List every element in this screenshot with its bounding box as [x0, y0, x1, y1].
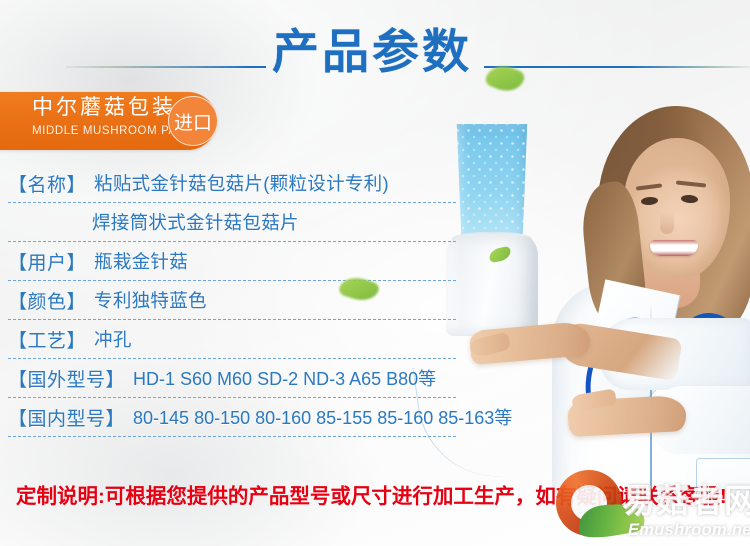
spec-key: 【国外型号】 — [8, 365, 125, 392]
spec-table: 【名称】 粘贴式金针菇包菇片(颗粒设计专利) 焊接筒状式金针菇包菇片 【用户】 … — [8, 164, 456, 437]
table-row: 【名称】 粘贴式金针菇包菇片(颗粒设计专利) — [8, 164, 456, 203]
spec-value: 焊接筒状式金针菇包菇片 — [84, 209, 456, 235]
spec-value: 专利独特蓝色 — [86, 287, 456, 313]
table-row: 【国内型号】 80-145 80-150 80-160 85-155 85-16… — [8, 398, 456, 437]
spec-key: 【颜色】 — [8, 287, 86, 314]
spec-value: 80-145 80-150 80-160 85-155 85-160 85-16… — [125, 404, 512, 430]
brand-name-cn: 中尔蘑菇包装 — [32, 96, 176, 120]
spec-value: 瓶栽金针菇 — [86, 248, 456, 274]
product-parameters-banner: 产品参数 中尔蘑菇包装 MIDDLE MUSHROOM PACKING 进口 — [0, 0, 750, 546]
nose — [660, 212, 674, 234]
table-row: 【国外型号】 HD-1 S60 M60 SD-2 ND-3 A65 B80等 — [8, 359, 456, 398]
table-row: 【工艺】 冲孔 — [8, 320, 456, 359]
import-badge-label: 进口 — [169, 97, 217, 145]
watermark-text-cn: 易菇者网 — [622, 482, 750, 520]
spec-value: HD-1 S60 M60 SD-2 ND-3 A65 B80等 — [125, 365, 456, 391]
spec-value: 冲孔 — [86, 326, 456, 352]
import-badge: 进口 — [168, 96, 218, 146]
spec-key: 【工艺】 — [8, 326, 86, 353]
spec-key: 【用户】 — [8, 248, 86, 275]
site-watermark: 易菇者网 Emushroom.net — [556, 468, 750, 546]
watermark-text-en: Emushroom.net — [628, 520, 750, 540]
spec-value: 粘贴式金针菇包菇片(颗粒设计专利) — [86, 170, 456, 196]
mouth-smile — [650, 240, 698, 256]
table-row: 【颜色】 专利独特蓝色 — [8, 281, 456, 320]
table-row: 焊接筒状式金针菇包菇片 — [8, 203, 456, 242]
heading-rule-left — [66, 66, 266, 68]
page-title: 产品参数 — [272, 22, 472, 82]
table-row: 【用户】 瓶栽金针菇 — [8, 242, 456, 281]
spec-key: 【名称】 — [8, 170, 86, 197]
spec-key: 【国内型号】 — [8, 404, 125, 431]
